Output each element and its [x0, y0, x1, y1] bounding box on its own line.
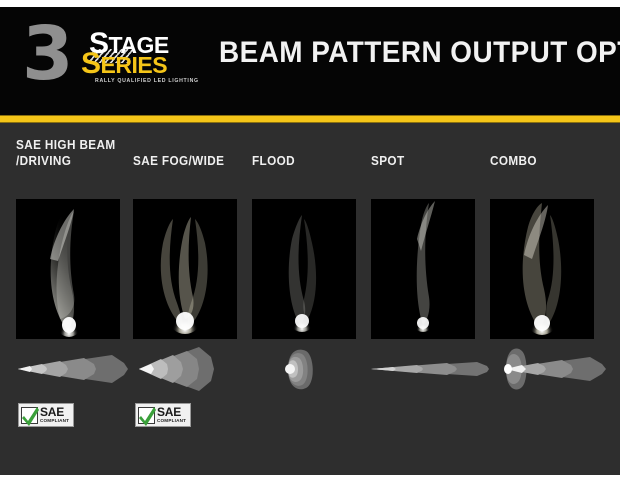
beam-photo	[16, 199, 120, 339]
logo-numeral: 3	[22, 17, 70, 91]
logo-series-rest: ERIES	[101, 52, 168, 78]
beam-option-sae-fog-wide[interactable]: SAE FOG/WIDE	[133, 131, 249, 475]
beam-options-row: SAE HIGH BEAM /DRIVING	[0, 131, 620, 475]
beam-option-label: SAE HIGH BEAM /DRIVING	[16, 137, 129, 169]
beam-option-flood[interactable]: FLOOD	[252, 131, 368, 475]
check-icon	[21, 407, 38, 424]
beam-option-label: SAE FOG/WIDE	[133, 153, 246, 169]
beam-spread-diagram	[244, 345, 376, 393]
beam-photo	[490, 199, 594, 339]
poster-canvas: 3 STAGE SERIES RALLY QUALIFIED LED LIGHT…	[0, 7, 620, 475]
poster-header: 3 STAGE SERIES RALLY QUALIFIED LED LIGHT…	[0, 7, 620, 115]
beam-photo	[371, 199, 475, 339]
beam-option-label-line1: COMBO	[490, 153, 603, 169]
beam-photo	[133, 199, 237, 339]
accent-divider	[0, 115, 620, 123]
beam-option-label-line1: SAE HIGH BEAM	[16, 137, 129, 153]
check-icon	[138, 407, 155, 424]
beam-option-label: SPOT	[371, 153, 484, 169]
brand-logo: 3 STAGE SERIES RALLY QUALIFIED LED LIGHT…	[22, 15, 197, 103]
beam-option-spot[interactable]: SPOT	[371, 131, 487, 475]
beam-spread-diagram	[363, 345, 495, 393]
logo-series-text: SERIES	[81, 49, 167, 79]
sae-badge-sub: COMPLIANT	[40, 418, 69, 424]
sae-badge-text: SAE COMPLIANT	[157, 406, 186, 424]
sae-compliant-badge: SAE COMPLIANT	[135, 403, 191, 427]
page-title: BEAM PATTERN OUTPUT OPTIONS	[219, 37, 591, 69]
beam-option-label: COMBO	[490, 153, 603, 169]
beam-spread-diagram	[125, 345, 257, 393]
sae-badge-main: SAE	[157, 406, 186, 418]
beam-spread-diagram	[8, 345, 140, 393]
sae-compliant-badge: SAE COMPLIANT	[18, 403, 74, 427]
sae-badge-main: SAE	[40, 406, 69, 418]
beam-option-sae-high-beam-driving[interactable]: SAE HIGH BEAM /DRIVING	[16, 131, 132, 475]
beam-photo	[252, 199, 356, 339]
logo-series-cap: S	[81, 47, 101, 80]
logo-wordmark: STAGE SERIES RALLY QUALIFIED LED LIGHTIN…	[77, 29, 199, 91]
sae-badge-text: SAE COMPLIANT	[40, 406, 69, 424]
beam-spread-diagram	[482, 345, 614, 393]
beam-option-label-line2: /DRIVING	[16, 153, 129, 169]
beam-option-label: FLOOD	[252, 153, 365, 169]
beam-option-combo[interactable]: COMBO	[490, 131, 606, 475]
sae-badge-sub: COMPLIANT	[157, 418, 186, 424]
logo-tagline: RALLY QUALIFIED LED LIGHTING	[95, 78, 199, 84]
beam-option-label-line1: SAE FOG/WIDE	[133, 153, 246, 169]
beam-option-label-line1: FLOOD	[252, 153, 365, 169]
beam-option-label-line1: SPOT	[371, 153, 484, 169]
